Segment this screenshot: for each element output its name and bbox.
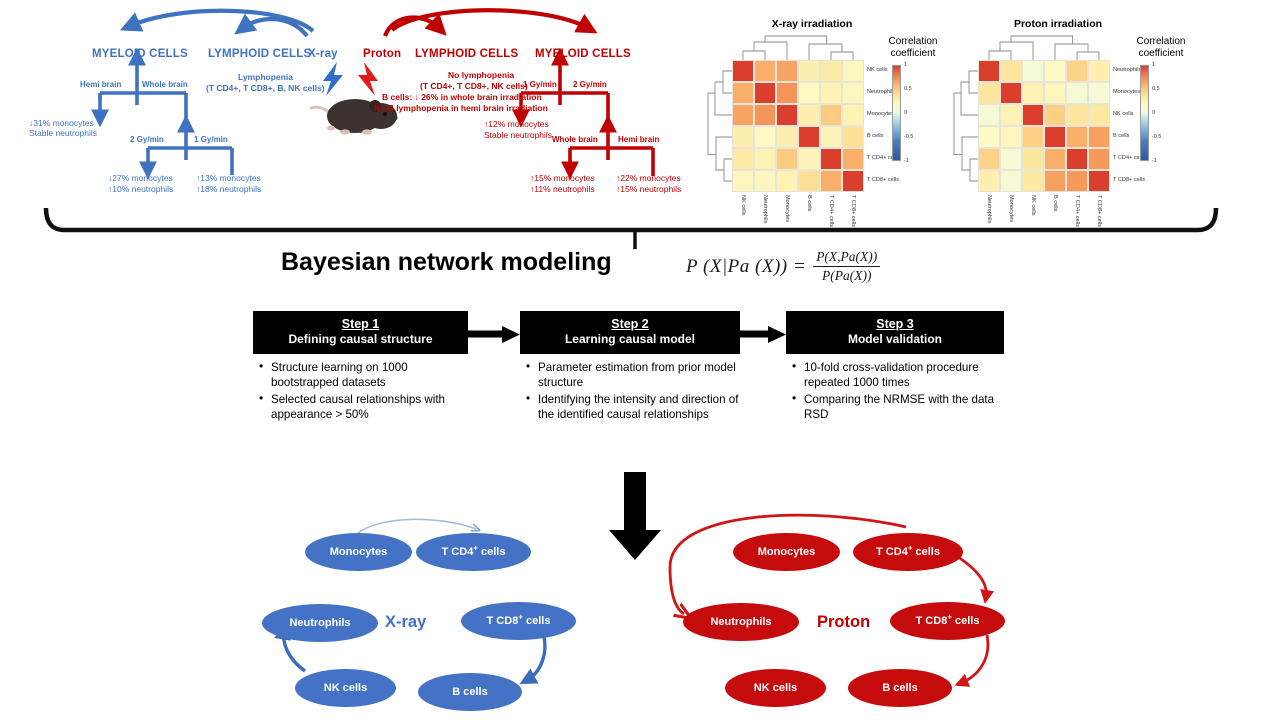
heatmap-cell — [820, 148, 842, 170]
heatmap-cell — [732, 126, 754, 148]
heatmap-cell — [732, 60, 754, 82]
heatmap-cell — [978, 170, 1000, 192]
proton-network-label: Proton — [817, 613, 870, 632]
heatmap-cell — [776, 170, 798, 192]
list-item: Selected causal relationships with appea… — [253, 392, 468, 423]
heatmap-cell — [754, 148, 776, 170]
step-3-name: Model validation — [790, 332, 1000, 346]
xray-node-neutrophils-label: Neutrophils — [289, 618, 350, 629]
proton-heatmap-title: Proton irradiation — [988, 18, 1128, 30]
xray-legend-title-line2: coefficient — [874, 48, 952, 60]
heatmap-cell — [820, 126, 842, 148]
xray-dose2-result-1: ↓27% monocytes — [108, 173, 173, 183]
correlation-colorbar — [892, 65, 901, 161]
heatmap-cell — [1066, 82, 1088, 104]
step-2-number: Step 2 — [524, 317, 736, 331]
heatmap-cell — [978, 82, 1000, 104]
heatmap-cell — [754, 170, 776, 192]
step-2-header: Step 2 Learning causal model — [520, 311, 740, 354]
list-item: Identifying the intensity and direction … — [520, 392, 740, 423]
heatmap-cell — [842, 126, 864, 148]
heatmap-cell — [1022, 60, 1044, 82]
xray-node-tcd4[interactable]: T CD4+ cells — [416, 533, 531, 571]
heatmap-cell — [820, 170, 842, 192]
xray-myeloid-header: MYELOID CELLS — [92, 48, 188, 60]
colorbar-tick-label: -0.5 — [904, 134, 913, 140]
heatmap-cell — [732, 104, 754, 126]
proton-bayesian-network: Monocytes T CD4+ cells Neutrophils T CD8… — [650, 515, 1010, 720]
heatmap-column-dendrogram — [732, 34, 864, 60]
heatmap-cell — [842, 60, 864, 82]
proton-dose-1gy-label: 1 Gy/min — [523, 80, 557, 89]
list-item: Parameter estimation from prior model st… — [520, 360, 740, 391]
colorbar-tick-label: -0.5 — [1152, 134, 1161, 140]
xray-node-monocytes[interactable]: Monocytes — [305, 533, 412, 571]
xray-node-tcd4-label: T CD4+ cells — [442, 547, 506, 558]
proton-lymph-note-2: (T CD4+, T CD8+, NK cells) — [420, 81, 528, 91]
bayesian-formula: P (X|Pa (X)) = P(X,Pa(X)) P(Pa(X)) — [686, 249, 880, 284]
list-item: Structure learning on 1000 bootstrapped … — [253, 360, 468, 391]
page-title: Bayesian network modeling — [281, 248, 612, 277]
proton-correlation-heatmap: Proton irradiation NeutrophilsMonocytesN… — [952, 12, 1202, 207]
step-3-bullets: 10-fold cross-validation procedure repea… — [786, 360, 1004, 422]
colorbar-tick-label: 1 — [1152, 62, 1155, 68]
proton-hemi-result-2: ↑15% neutrophils — [616, 184, 681, 194]
heatmap-cell — [776, 104, 798, 126]
heatmap-cell — [776, 82, 798, 104]
heatmap-cell — [798, 126, 820, 148]
colorbar-tick-label: -1 — [904, 158, 909, 164]
colorbar-tick-label: 0 — [1152, 110, 1155, 116]
heatmap-cell — [1022, 170, 1044, 192]
proton-node-tcd4-label: T CD4+ cells — [876, 547, 940, 558]
step-1-header: Step 1 Defining causal structure — [253, 311, 468, 354]
xray-lymphoid-header: LYMPHOID CELLS — [208, 48, 311, 60]
proton-node-monocytes-label: Monocytes — [758, 547, 815, 558]
colorbar-tick-label: 0.5 — [904, 86, 912, 92]
heatmap-cell — [978, 104, 1000, 126]
heatmap-cell — [1088, 60, 1110, 82]
heatmap-cell — [1088, 170, 1110, 192]
heatmap-cell — [1088, 126, 1110, 148]
step-1-name: Defining causal structure — [257, 332, 464, 346]
xray-lightning-bolt-icon — [320, 62, 346, 96]
heatmap-cell — [1044, 104, 1066, 126]
proton-whole-result-1: ↑15% monocytes — [530, 173, 595, 183]
heatmap-cell — [1000, 60, 1022, 82]
xray-dose2-result-2: ↑10% neutrophils — [108, 184, 173, 194]
list-item: 10-fold cross-validation procedure repea… — [786, 360, 1004, 391]
heatmap-matrix — [978, 60, 1110, 192]
heatmap-cell — [754, 82, 776, 104]
formula-denominator: P(Pa(X)) — [813, 267, 880, 284]
xray-branch-whole-label: Whole brain — [142, 80, 188, 89]
heatmap-cell — [1000, 82, 1022, 104]
heatmap-cell — [776, 60, 798, 82]
xray-dose1-result-1: ↑13% monocytes — [196, 173, 261, 183]
heatmap-cell — [1066, 170, 1088, 192]
proton-dose1-result-2: Stable neutrophils — [484, 130, 552, 140]
heatmap-cell — [732, 170, 754, 192]
colorbar-tick-label: 1 — [904, 62, 907, 68]
summary-bracket — [0, 200, 1280, 250]
proton-branch-hemi-label: Hemi brain — [618, 135, 659, 144]
xray-lymphopenia-note-1: Lymphopenia — [238, 72, 293, 82]
heatmap-cell — [1088, 82, 1110, 104]
heatmap-cell — [1044, 60, 1066, 82]
colorbar-tick-label: 0.5 — [1152, 86, 1160, 92]
heatmap-cell — [1000, 170, 1022, 192]
heatmap-cell — [754, 104, 776, 126]
xray-flow-diagram: MYELOID CELLS LYMPHOID CELLS Lymphopenia… — [0, 0, 340, 205]
xray-node-nk-label: NK cells — [324, 683, 367, 694]
heatmap-cell — [754, 126, 776, 148]
xray-correlation-heatmap: X-ray irradiation NK cellsNeutrophilsMon… — [706, 12, 951, 207]
heatmap-column-dendrogram — [978, 34, 1110, 60]
step-1-bullets: Structure learning on 1000 bootstrapped … — [253, 360, 468, 422]
proton-node-tcd8[interactable]: T CD8+ cells — [890, 602, 1005, 640]
heatmap-cell — [754, 60, 776, 82]
proton-legend-title-line1: Correlation — [1122, 36, 1200, 48]
heatmap-cell — [978, 148, 1000, 170]
heatmap-cell — [1044, 170, 1066, 192]
heatmap-cell — [1044, 126, 1066, 148]
formula-left-side: P (X|Pa (X)) = — [686, 256, 806, 278]
step-3-header: Step 3 Model validation — [786, 311, 1004, 354]
heatmap-cell — [978, 126, 1000, 148]
heatmap-cell — [820, 82, 842, 104]
heatmap-cell — [842, 148, 864, 170]
heatmap-cell — [1066, 148, 1088, 170]
proton-dose1-result-1: ↑12% monocytes — [484, 119, 549, 129]
xray-bayesian-network: Monocytes T CD4+ cells Neutrophils T CD8… — [250, 515, 590, 720]
formula-numerator: P(X,Pa(X)) — [813, 249, 880, 267]
proton-node-neutrophils[interactable]: Neutrophils — [683, 603, 799, 641]
heatmap-cell — [978, 60, 1000, 82]
proton-node-tcd8-label: T CD8+ cells — [916, 616, 980, 627]
proton-hemi-result-1: ↑22% monocytes — [616, 173, 681, 183]
xray-node-monocytes-label: Monocytes — [330, 547, 387, 558]
xray-legend: Correlation coefficient 10.50-0.5-1 — [874, 36, 952, 169]
heatmap-cell — [798, 170, 820, 192]
step-2: Step 2 Learning causal model Parameter e… — [520, 311, 740, 423]
formula-fraction: P(X,Pa(X)) P(Pa(X)) — [813, 249, 880, 284]
xray-node-neutrophils[interactable]: Neutrophils — [262, 604, 378, 642]
heatmap-row-dendrogram — [952, 60, 978, 192]
proton-flow-diagram: Proton LYMPHOID CELLS MYELOID CELLS No l… — [355, 0, 715, 205]
heatmap-row-dendrogram — [706, 60, 732, 192]
xray-heatmap-title: X-ray irradiation — [742, 18, 882, 30]
step-1-to-2-arrow — [468, 326, 522, 344]
heatmap-cell — [776, 148, 798, 170]
heatmap-cell — [1044, 82, 1066, 104]
xray-node-tcd8[interactable]: T CD8+ cells — [461, 602, 576, 640]
heatmap-cell — [1022, 104, 1044, 126]
proton-node-tcd4[interactable]: T CD4+ cells — [853, 533, 963, 571]
proton-node-nk[interactable]: NK cells — [725, 669, 826, 707]
correlation-colorbar — [1140, 65, 1149, 161]
xray-modality-label: X-ray — [308, 48, 338, 60]
heatmap-row-label: T CD8+ cells — [867, 178, 899, 184]
xray-dose-1gy-label: 1 Gy/min — [194, 135, 228, 144]
heatmap-cell — [732, 148, 754, 170]
heatmap-matrix — [732, 60, 864, 192]
proton-lymph-note-3: B cells: ↓ 26% in whole brain irradiatio… — [382, 92, 542, 102]
heatmap-cell — [1066, 60, 1088, 82]
colorbar-tick-label: 0 — [904, 110, 907, 116]
heatmap-cell — [1000, 148, 1022, 170]
xray-node-bcells-label: B cells — [452, 687, 487, 698]
proton-lymphoid-header: LYMPHOID CELLS — [415, 48, 518, 60]
heatmap-cell — [1088, 104, 1110, 126]
proton-branch-whole-label: Whole brain — [552, 135, 598, 144]
proton-lymph-note-1: No lymphopenia — [448, 70, 514, 80]
heatmap-cell — [798, 148, 820, 170]
xray-legend-title-line1: Correlation — [874, 36, 952, 48]
step-2-name: Learning causal model — [524, 332, 736, 346]
xray-node-bcells[interactable]: B cells — [418, 673, 522, 711]
heatmap-cell — [732, 82, 754, 104]
xray-node-tcd8-label: T CD8+ cells — [487, 616, 551, 627]
heatmap-cell — [842, 104, 864, 126]
xray-node-nk[interactable]: NK cells — [295, 669, 396, 707]
proton-node-monocytes[interactable]: Monocytes — [733, 533, 840, 571]
proton-legend-title-line2: coefficient — [1122, 48, 1200, 60]
proton-legend: Correlation coefficient 10.50-0.5-1 — [1122, 36, 1200, 169]
heatmap-row-label: T CD8+ cells — [1113, 178, 1145, 184]
step-2-to-3-arrow — [738, 326, 788, 344]
step-3: Step 3 Model validation 10-fold cross-va… — [786, 311, 1004, 423]
proton-node-nk-label: NK cells — [754, 683, 797, 694]
proton-node-bcells-label: B cells — [882, 683, 917, 694]
xray-hemi-result-2: Stable neutrophils — [29, 128, 97, 138]
step-3-number: Step 3 — [790, 317, 1000, 331]
heatmap-cell — [842, 170, 864, 192]
proton-myeloid-header: MYELOID CELLS — [535, 48, 631, 60]
xray-branch-hemi-label: Hemi brain — [80, 80, 121, 89]
xray-network-label: X-ray — [385, 613, 426, 632]
proton-modality-label: Proton — [363, 48, 401, 60]
heatmap-cell — [1022, 148, 1044, 170]
proton-lymph-note-4: No B lymphopenia in hemi brain irradiati… — [374, 103, 548, 113]
heatmap-cell — [1066, 104, 1088, 126]
heatmap-cell — [1088, 148, 1110, 170]
heatmap-cell — [798, 82, 820, 104]
xray-dose-2gy-label: 2 Gy/min — [130, 135, 164, 144]
step-2-bullets: Parameter estimation from prior model st… — [520, 360, 740, 422]
step-1: Step 1 Defining causal structure Structu… — [253, 311, 468, 423]
heatmap-cell — [1000, 104, 1022, 126]
proton-node-bcells[interactable]: B cells — [848, 669, 952, 707]
heatmap-cell — [820, 104, 842, 126]
step-1-number: Step 1 — [257, 317, 464, 331]
xray-dose1-result-2: ↑18% neutrophils — [196, 184, 261, 194]
proton-dose-2gy-label: 2 Gy/min — [573, 80, 607, 89]
list-item: Comparing the NRMSE with the data RSD — [786, 392, 1004, 423]
heatmap-cell — [798, 60, 820, 82]
heatmap-cell — [1044, 148, 1066, 170]
colorbar-tick-label: -1 — [1152, 158, 1157, 164]
heatmap-cell — [1022, 82, 1044, 104]
proton-node-neutrophils-label: Neutrophils — [710, 617, 771, 628]
heatmap-cell — [842, 82, 864, 104]
heatmap-cell — [798, 104, 820, 126]
proton-whole-result-2: ↑11% neutrophils — [530, 184, 595, 194]
heatmap-cell — [820, 60, 842, 82]
xray-hemi-result-1: ↓31% monocytes — [29, 118, 94, 128]
heatmap-cell — [1066, 126, 1088, 148]
heatmap-cell — [776, 126, 798, 148]
heatmap-cell — [1022, 126, 1044, 148]
heatmap-cell — [1000, 126, 1022, 148]
